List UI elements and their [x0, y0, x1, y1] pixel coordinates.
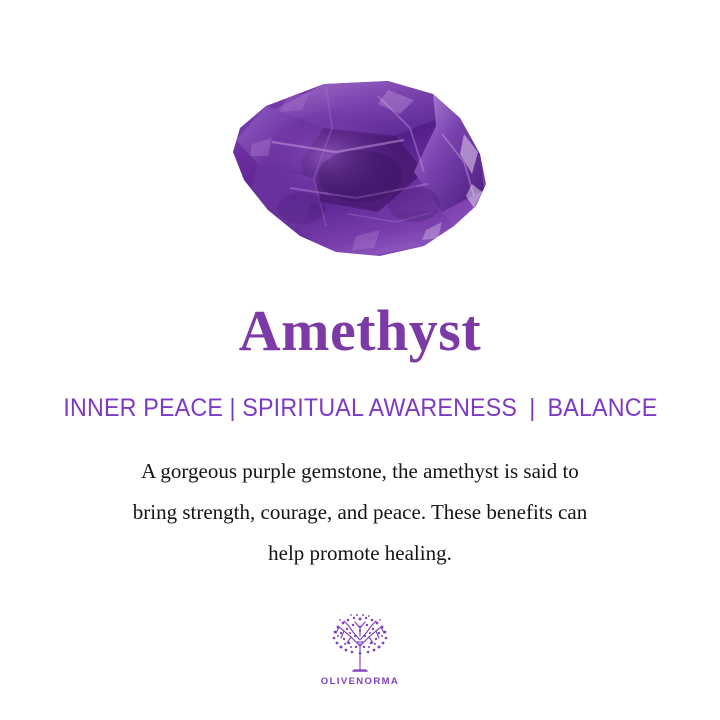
- description-paragraph: A gorgeous purple gemstone, the amethyst…: [40, 423, 680, 574]
- brand-name: OLIVENORMA: [321, 676, 399, 687]
- keyword-line: INNER PEACE|SPIRITUAL AWARENESS|BALANCE: [63, 360, 657, 423]
- description-line: help promote healing.: [40, 533, 680, 574]
- keyword-balance: BALANCE: [547, 394, 657, 422]
- tree-logo-icon: [327, 612, 393, 674]
- description-line: A gorgeous purple gemstone, the amethyst…: [40, 451, 680, 492]
- keyword-separator: |: [517, 394, 547, 422]
- page-title: Amethyst: [239, 280, 481, 360]
- brand-logo: OLIVENORMA: [0, 612, 720, 687]
- keyword-inner-peace: INNER PEACE: [63, 394, 223, 422]
- keyword-separator: |: [223, 394, 242, 422]
- hero-image-area: [0, 0, 720, 280]
- amethyst-info-card: Amethyst INNER PEACE|SPIRITUAL AWARENESS…: [0, 0, 720, 720]
- description-line: bring strength, courage, and peace. Thes…: [40, 492, 680, 533]
- keyword-spiritual-awareness: SPIRITUAL AWARENESS: [242, 394, 517, 422]
- amethyst-crystal-image: [228, 80, 490, 258]
- amethyst-crystal-icon: [228, 80, 490, 258]
